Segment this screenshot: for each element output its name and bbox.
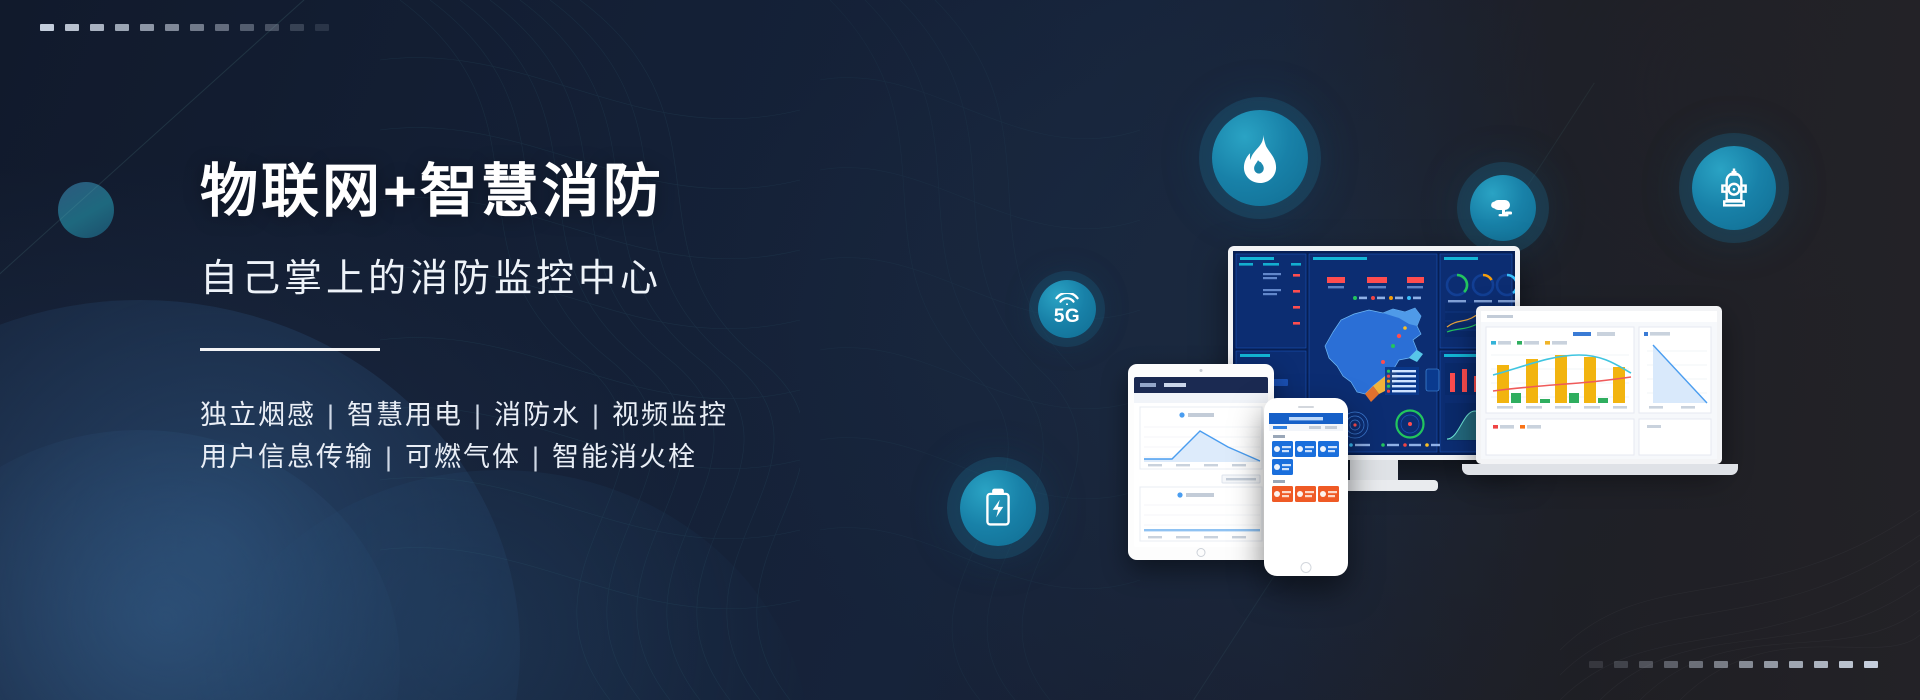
laptop-base [1462, 464, 1738, 475]
fire-hydrant-icon-bubble[interactable] [1692, 146, 1776, 230]
feature-item: 智能消火栓 [552, 442, 697, 472]
feature-item: 可燃气体 [405, 442, 521, 472]
smartphone [1264, 398, 1348, 576]
device-cluster [1118, 288, 1778, 588]
phone-screen [1269, 413, 1343, 560]
page-subtitle: 自己掌上的消防监控中心 [200, 247, 920, 302]
decor-dash [40, 24, 54, 31]
feature-item: 用户信息传输 [200, 442, 374, 472]
hero-copy: 物联网+智慧消防 自己掌上的消防监控中心 独立烟感|智慧用电|消防水|视频监控 … [200, 160, 920, 479]
decor-dashes-bottom-right [1589, 661, 1878, 668]
decor-dash [190, 24, 204, 31]
decor-dash [1864, 661, 1878, 668]
cctv-camera-icon-bubble[interactable] [1470, 175, 1536, 241]
feature-separator: | [581, 395, 612, 437]
fire-hydrant-icon [1714, 166, 1754, 210]
decor-dash [1714, 661, 1728, 668]
laptop-lid [1476, 306, 1722, 464]
cctv-camera-icon [1487, 192, 1519, 224]
tablet-camera [1200, 369, 1203, 372]
decor-dash [315, 24, 329, 31]
decor-dash [1614, 661, 1628, 668]
divider-rule [200, 348, 380, 351]
feature-separator: | [463, 395, 494, 437]
feature-separator: | [374, 437, 405, 479]
feature-row-2: 用户信息传输|可燃气体|智能消火栓 [200, 437, 920, 479]
decor-dash [1814, 661, 1828, 668]
decor-dash [165, 24, 179, 31]
laptop-screen [1481, 311, 1717, 459]
decor-dash [1689, 661, 1703, 668]
feature-row-1: 独立烟感|智慧用电|消防水|视频监控 [200, 395, 920, 437]
decor-dash [65, 24, 79, 31]
decor-dash [115, 24, 129, 31]
decor-dash [140, 24, 154, 31]
decor-dash [290, 24, 304, 31]
decor-dash [1589, 661, 1603, 668]
feature-item: 视频监控 [612, 400, 728, 430]
decor-dash [1739, 661, 1753, 668]
battery-charging-icon-bubble[interactable] [960, 470, 1036, 546]
page-title: 物联网+智慧消防 [200, 160, 920, 225]
5g-signal-icon-bubble[interactable]: 5G [1038, 280, 1096, 338]
decor-dash [1764, 661, 1778, 668]
phone-speaker [1298, 406, 1314, 408]
5g-label: 5G [1054, 307, 1080, 326]
tablet [1128, 364, 1274, 560]
feature-item: 智慧用电 [347, 400, 463, 430]
decor-dash [1839, 661, 1853, 668]
flame-icon [1238, 133, 1282, 183]
tablet-home-button[interactable] [1197, 548, 1206, 557]
hero-banner: 物联网+智慧消防 自己掌上的消防监控中心 独立烟感|智慧用电|消防水|视频监控 … [0, 0, 1920, 700]
decor-dash [1664, 661, 1678, 668]
flame-icon-bubble[interactable] [1212, 110, 1308, 206]
decor-dash [1789, 661, 1803, 668]
decor-dash [215, 24, 229, 31]
decor-dash [265, 24, 279, 31]
battery-charging-icon [982, 488, 1014, 528]
feature-list: 独立烟感|智慧用电|消防水|视频监控 用户信息传输|可燃气体|智能消火栓 [200, 395, 920, 479]
feature-separator: | [316, 395, 347, 437]
phone-home-button[interactable] [1301, 562, 1312, 573]
decor-dash [90, 24, 104, 31]
tablet-screen [1134, 377, 1268, 547]
decor-dash [1639, 661, 1653, 668]
decor-circle [58, 182, 114, 238]
decor-dash [240, 24, 254, 31]
monitor-neck [1350, 460, 1398, 482]
decor-dashes-top-left [40, 24, 329, 31]
feature-item: 独立烟感 [200, 400, 316, 430]
laptop [1476, 306, 1744, 498]
feature-item: 消防水 [494, 400, 581, 430]
5g-signal-icon: 5G [1054, 293, 1080, 326]
feature-separator: | [521, 437, 552, 479]
